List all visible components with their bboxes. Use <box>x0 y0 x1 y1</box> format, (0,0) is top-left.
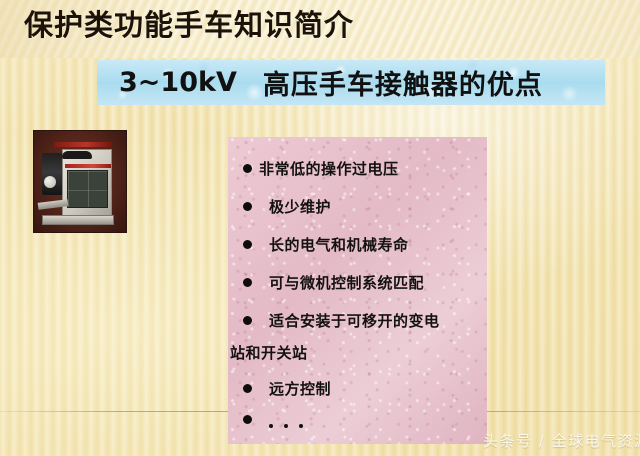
photo-red-stripe <box>65 164 111 168</box>
banner-voltage-label: 3~10kV <box>119 67 237 98</box>
bullet-dot-icon <box>243 164 252 173</box>
slide-canvas: 保护类功能手车知识简介 3~10kV 高压手车接触器的优点 非常低的操作过电压 … <box>0 0 640 456</box>
photo-round-knob <box>44 176 56 188</box>
photo-handle <box>62 151 92 159</box>
bullet-dot-icon <box>243 415 252 424</box>
list-item-label: 适合安装于可移开的变电 <box>269 310 440 331</box>
list-item: 可与微机控制系统匹配 <box>243 272 424 293</box>
bullet-dot-icon <box>243 240 252 249</box>
banner-subject-label: 高压手车接触器的优点 <box>263 63 543 102</box>
list-item: 极少维护 <box>243 196 331 217</box>
list-item-wrapped-line: 站和开关站 <box>230 342 308 363</box>
watermark: 头条号 / 全球电气资源 <box>483 430 640 451</box>
advantages-panel: 非常低的操作过电压 极少维护 长的电气和机械寿命 可与微机控制系统匹配 适合安装… <box>228 137 487 444</box>
list-item <box>243 416 303 425</box>
product-photo <box>33 130 127 233</box>
page-title: 保护类功能手车知识简介 <box>24 2 354 44</box>
ellipsis-icon <box>269 421 303 425</box>
bullet-dot-icon <box>243 278 252 287</box>
list-item: 长的电气和机械寿命 <box>243 234 409 255</box>
photo-top-red-band <box>54 142 112 147</box>
photo-front-grille <box>67 170 108 208</box>
bullet-dot-icon <box>243 316 252 325</box>
bullet-dot-icon <box>243 202 252 211</box>
list-item: 远方控制 <box>243 378 331 399</box>
list-item-label: 长的电气和机械寿命 <box>269 234 409 255</box>
bullet-dot-icon <box>243 384 252 393</box>
list-item-label: 非常低的操作过电压 <box>259 158 399 179</box>
subject-banner: 3~10kV 高压手车接触器的优点 <box>97 60 605 105</box>
list-item-label: 极少维护 <box>269 196 331 217</box>
list-item: 适合安装于可移开的变电 <box>243 310 440 331</box>
list-item-label: 可与微机控制系统匹配 <box>269 272 424 293</box>
photo-base-frame <box>42 215 114 225</box>
list-item-label: 远方控制 <box>269 378 331 399</box>
list-item: 非常低的操作过电压 <box>243 158 399 179</box>
